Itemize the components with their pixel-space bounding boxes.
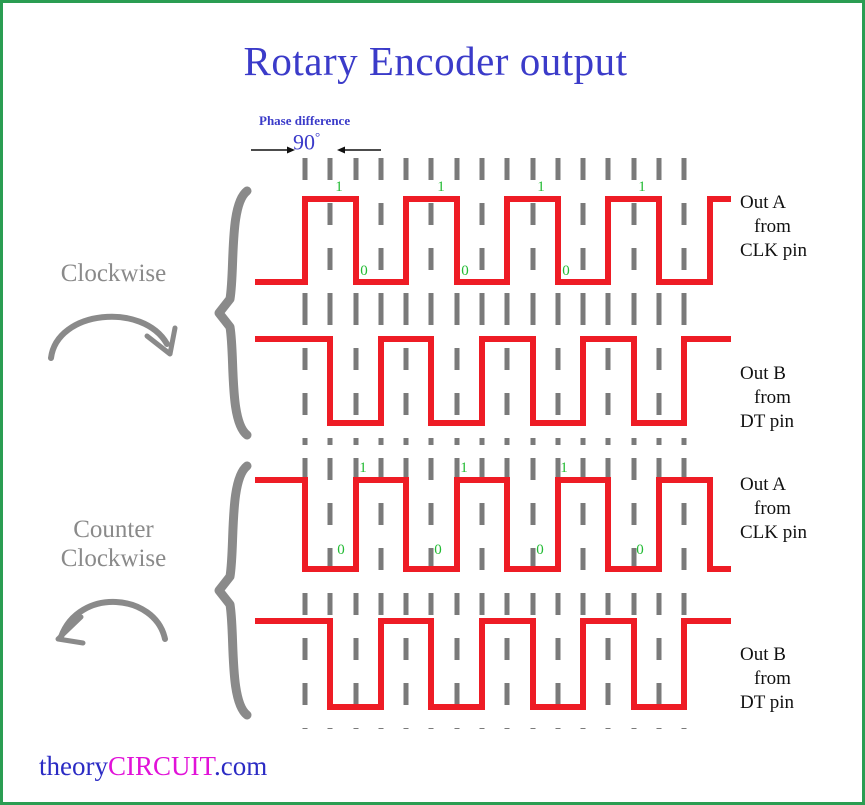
signal-label-out-b-cw: Out B from DT pin [740, 362, 794, 434]
phase-number: 90 [293, 129, 315, 154]
signal-label-line1: Out B [740, 643, 794, 667]
signal-label-line2: from [740, 497, 807, 521]
brace-counter-clockwise [219, 466, 247, 715]
signal-label-line1: Out A [740, 473, 807, 497]
direction-label-clockwise: Clockwise [11, 259, 216, 288]
signal-label-line1: Out A [740, 191, 807, 215]
brand-part-circuit: CIRCUIT [108, 751, 214, 781]
direction-block-clockwise: Clockwise [11, 259, 216, 364]
bit-value-marker: 1 [335, 179, 343, 195]
bit-value-marker: 0 [434, 542, 442, 558]
arrow-right-icon [251, 145, 295, 155]
direction-label-clockwise: Clockwise [11, 544, 216, 573]
curved-arrow-counterclockwise-icon [11, 577, 216, 649]
gridlines-layer [305, 158, 684, 729]
bit-value-marker: 1 [460, 460, 468, 476]
bit-value-marker: 1 [560, 460, 568, 476]
waveform-trace [255, 339, 731, 423]
brand-part-theory: theory [39, 751, 108, 781]
signal-label-line2: from [740, 667, 794, 691]
direction-label-counter: Counter [11, 515, 216, 544]
waveform-plot: 10101011010100 [3, 3, 865, 805]
bit-value-marker: 0 [536, 542, 544, 558]
brand-part-com: .com [214, 751, 267, 781]
waveform-trace [255, 621, 731, 707]
waveform-trace [255, 199, 731, 282]
bit-value-marker: 0 [562, 263, 570, 279]
phase-difference-value: 90° [293, 129, 320, 155]
signal-label-line3: CLK pin [740, 521, 807, 545]
signal-label-line2: from [740, 386, 794, 410]
brace-clockwise [219, 191, 247, 435]
arrow-left-icon [337, 145, 381, 155]
bit-value-marker: 0 [461, 263, 469, 279]
signal-label-out-a-cw: Out A from CLK pin [740, 191, 807, 263]
phase-difference-label: Phase difference [259, 113, 350, 129]
bit-value-marker: 0 [636, 542, 644, 558]
bit-value-marker: 1 [537, 179, 545, 195]
signal-label-line2: from [740, 215, 807, 239]
signal-label-out-a-ccw: Out A from CLK pin [740, 473, 807, 545]
signal-label-line3: DT pin [740, 410, 794, 434]
degree-symbol: ° [315, 129, 320, 144]
waveform-trace [255, 480, 731, 569]
direction-block-counter-clockwise: Counter Clockwise [11, 515, 216, 649]
encoder-diagram-page: Rotary Encoder output Phase difference 9… [0, 0, 865, 805]
signal-label-line1: Out B [740, 362, 794, 386]
signal-label-out-b-ccw: Out B from DT pin [740, 643, 794, 715]
bit-value-marker: 1 [359, 460, 367, 476]
bit-value-marker: 0 [360, 263, 368, 279]
bit-value-marker: 1 [437, 179, 445, 195]
signal-label-line3: CLK pin [740, 239, 807, 263]
grouping-braces-layer [219, 191, 247, 715]
bit-value-markers-layer: 10101011010100 [335, 179, 646, 558]
page-title: Rotary Encoder output [3, 37, 865, 85]
bit-value-marker: 0 [337, 542, 345, 558]
brand-logo: theoryCIRCUIT.com [39, 751, 267, 782]
phase-difference-annotation: Phase difference 90° [251, 113, 411, 161]
signal-label-line3: DT pin [740, 691, 794, 715]
bit-value-marker: 1 [638, 179, 646, 195]
waveform-traces-layer [255, 199, 731, 707]
curved-arrow-clockwise-icon [11, 292, 216, 364]
